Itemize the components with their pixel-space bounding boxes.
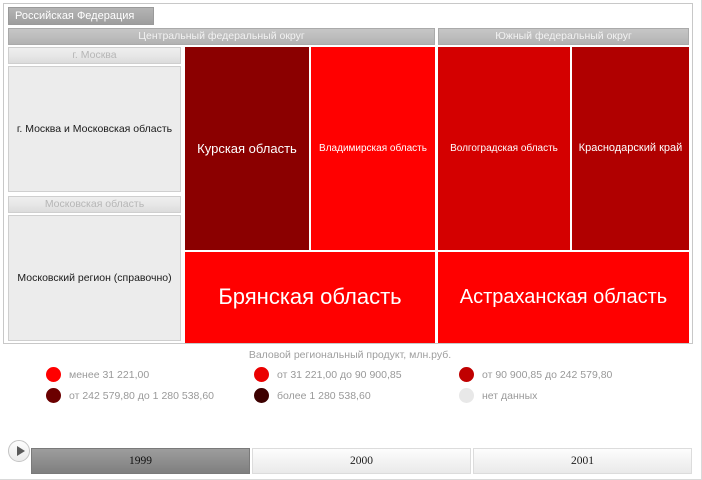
- treemap-cell[interactable]: Астраханская область: [438, 252, 689, 343]
- year-tabs: 199920002001: [31, 448, 692, 474]
- year-tab[interactable]: 1999: [31, 448, 250, 474]
- legend-label: от 31 221,00 до 90 900,85: [277, 369, 402, 381]
- legend-row: менее 31 221,00от 31 221,00 до 90 900,85…: [0, 367, 700, 382]
- no-data-block-label: Московский регион (справочно): [8, 215, 181, 341]
- no-data-group: г. Москваг. Москва и Московская областьМ…: [8, 47, 181, 341]
- treemap-row: Астраханская область: [438, 252, 689, 343]
- legend: Валовой региональный продукт, млн.руб. м…: [0, 344, 700, 420]
- treemap-cell-label: Волгоградская область: [447, 143, 561, 154]
- no-data-block-label: г. Москва и Московская область: [8, 66, 181, 192]
- legend-swatch: [459, 367, 474, 382]
- legend-item[interactable]: нет данных: [459, 388, 689, 403]
- legend-swatch: [459, 388, 474, 403]
- legend-item[interactable]: от 242 579,80 до 1 280 538,60: [46, 388, 254, 403]
- treemap-cell-label: Курская область: [194, 141, 300, 156]
- district-body: г. Москваг. Москва и Московская областьМ…: [8, 47, 435, 341]
- year-tab[interactable]: 2001: [473, 448, 692, 474]
- treemap-cell-label: Астраханская область: [457, 286, 670, 309]
- treemap-cell[interactable]: Волгоградская область: [438, 47, 570, 250]
- treemap-row: Курская областьВладимирская область: [185, 47, 435, 250]
- district-split: г. Москваг. Москва и Московская областьМ…: [8, 47, 435, 341]
- timeline-control: 199920002001: [0, 428, 700, 480]
- legend-row: от 242 579,80 до 1 280 538,60более 1 280…: [0, 388, 700, 403]
- root-node-header[interactable]: Российская Федерация: [8, 7, 154, 25]
- district-header[interactable]: Южный федеральный округ: [438, 28, 689, 45]
- treemap-cell-label: Владимирская область: [316, 143, 430, 154]
- treemap-cell[interactable]: Курская область: [185, 47, 309, 250]
- district-group: Центральный федеральный округг. Москваг.…: [8, 28, 435, 341]
- legend-item[interactable]: более 1 280 538,60: [254, 388, 459, 403]
- treemap-panel: Российская Федерация Центральный федерал…: [3, 3, 693, 344]
- treemap-cell[interactable]: Краснодарский край: [572, 47, 689, 250]
- no-data-block-header[interactable]: Московская область: [8, 196, 181, 213]
- district-group: Южный федеральный округВолгоградская обл…: [438, 28, 689, 341]
- legend-label: менее 31 221,00: [69, 369, 149, 381]
- district-body: Волгоградская областьКраснодарский крайА…: [438, 47, 689, 341]
- legend-item[interactable]: менее 31 221,00: [46, 367, 254, 382]
- no-data-block-header[interactable]: г. Москва: [8, 47, 181, 64]
- treemap-row: Брянская область: [185, 252, 435, 343]
- legend-swatch: [254, 367, 269, 382]
- legend-item[interactable]: от 31 221,00 до 90 900,85: [254, 367, 459, 382]
- districts-container: Центральный федеральный округг. Москваг.…: [8, 28, 689, 341]
- year-tab[interactable]: 2000: [252, 448, 471, 474]
- legend-label: от 242 579,80 до 1 280 538,60: [69, 390, 214, 402]
- play-triangle: [17, 446, 25, 456]
- treemap-cell[interactable]: Владимирская область: [311, 47, 435, 250]
- legend-label: более 1 280 538,60: [277, 390, 371, 402]
- district-header[interactable]: Центральный федеральный округ: [8, 28, 435, 45]
- play-icon[interactable]: [8, 440, 30, 462]
- legend-label: от 90 900,85 до 242 579,80: [482, 369, 612, 381]
- legend-swatch: [254, 388, 269, 403]
- legend-title: Валовой региональный продукт, млн.руб.: [0, 344, 700, 361]
- no-data-block[interactable]: Московская областьМосковский регион (спр…: [8, 196, 181, 341]
- no-data-block[interactable]: г. Москваг. Москва и Московская область: [8, 47, 181, 192]
- application-window: Российская Федерация Центральный федерал…: [0, 0, 702, 480]
- treemap-rows: Курская областьВладимирская областьБрянс…: [185, 47, 435, 341]
- legend-swatch: [46, 367, 61, 382]
- treemap-row: Волгоградская областьКраснодарский край: [438, 47, 689, 250]
- legend-item[interactable]: от 90 900,85 до 242 579,80: [459, 367, 689, 382]
- legend-label: нет данных: [482, 390, 537, 402]
- legend-swatch: [46, 388, 61, 403]
- treemap-cell-label: Краснодарский край: [576, 142, 686, 154]
- treemap-cell-label: Брянская область: [215, 284, 404, 310]
- treemap-cell[interactable]: Брянская область: [185, 252, 435, 343]
